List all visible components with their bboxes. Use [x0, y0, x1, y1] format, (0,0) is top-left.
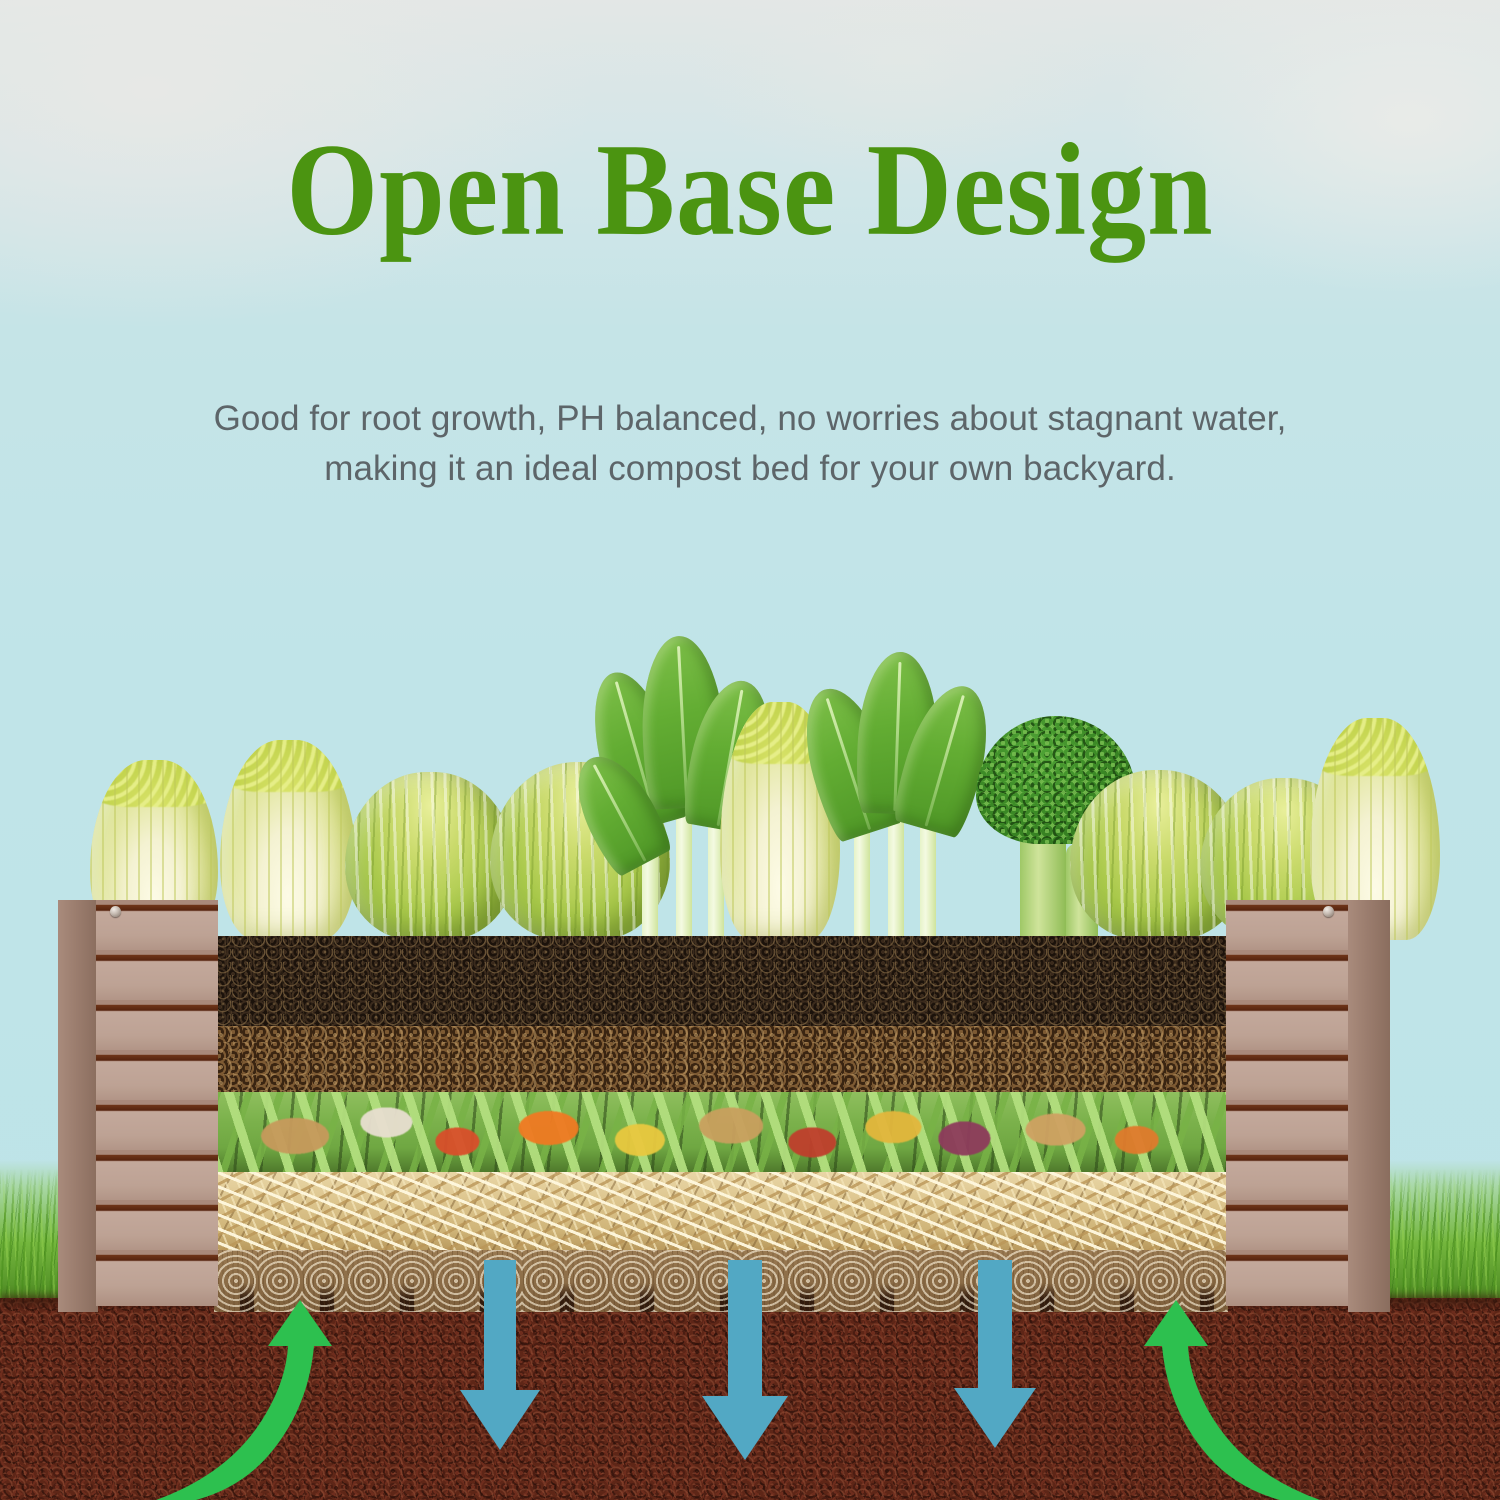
right-side-panel — [1226, 900, 1348, 1306]
arrow-up-left-icon — [156, 1300, 332, 1500]
napa-frill — [225, 740, 350, 792]
left-side-panel — [96, 900, 218, 1306]
arrow-up-right-icon — [1144, 1300, 1320, 1500]
airflow-arrows — [0, 1260, 1500, 1500]
product-feature-banner: Open Base Design Good for root growth, P… — [0, 0, 1500, 1500]
subtitle-line-1: Good for root growth, PH balanced, no wo… — [65, 394, 1435, 444]
napa-frill — [95, 760, 213, 807]
subtitle-line-2: making it an ideal compost bed for your … — [65, 444, 1435, 494]
right-corner-post — [1348, 900, 1390, 1312]
vegetable-row — [60, 630, 1440, 940]
arrow-down-2-icon — [702, 1260, 788, 1460]
arrow-down-1-icon — [460, 1260, 540, 1450]
page-title: Open Base Design — [0, 124, 1500, 256]
napa-frill — [1315, 718, 1435, 776]
panel-screw — [110, 906, 121, 917]
raised-garden-bed-frame — [0, 900, 1500, 1320]
arrow-down-3-icon — [954, 1260, 1036, 1448]
left-corner-post — [58, 900, 98, 1312]
page-subtitle: Good for root growth, PH balanced, no wo… — [65, 394, 1435, 493]
panel-screw — [1323, 906, 1334, 917]
